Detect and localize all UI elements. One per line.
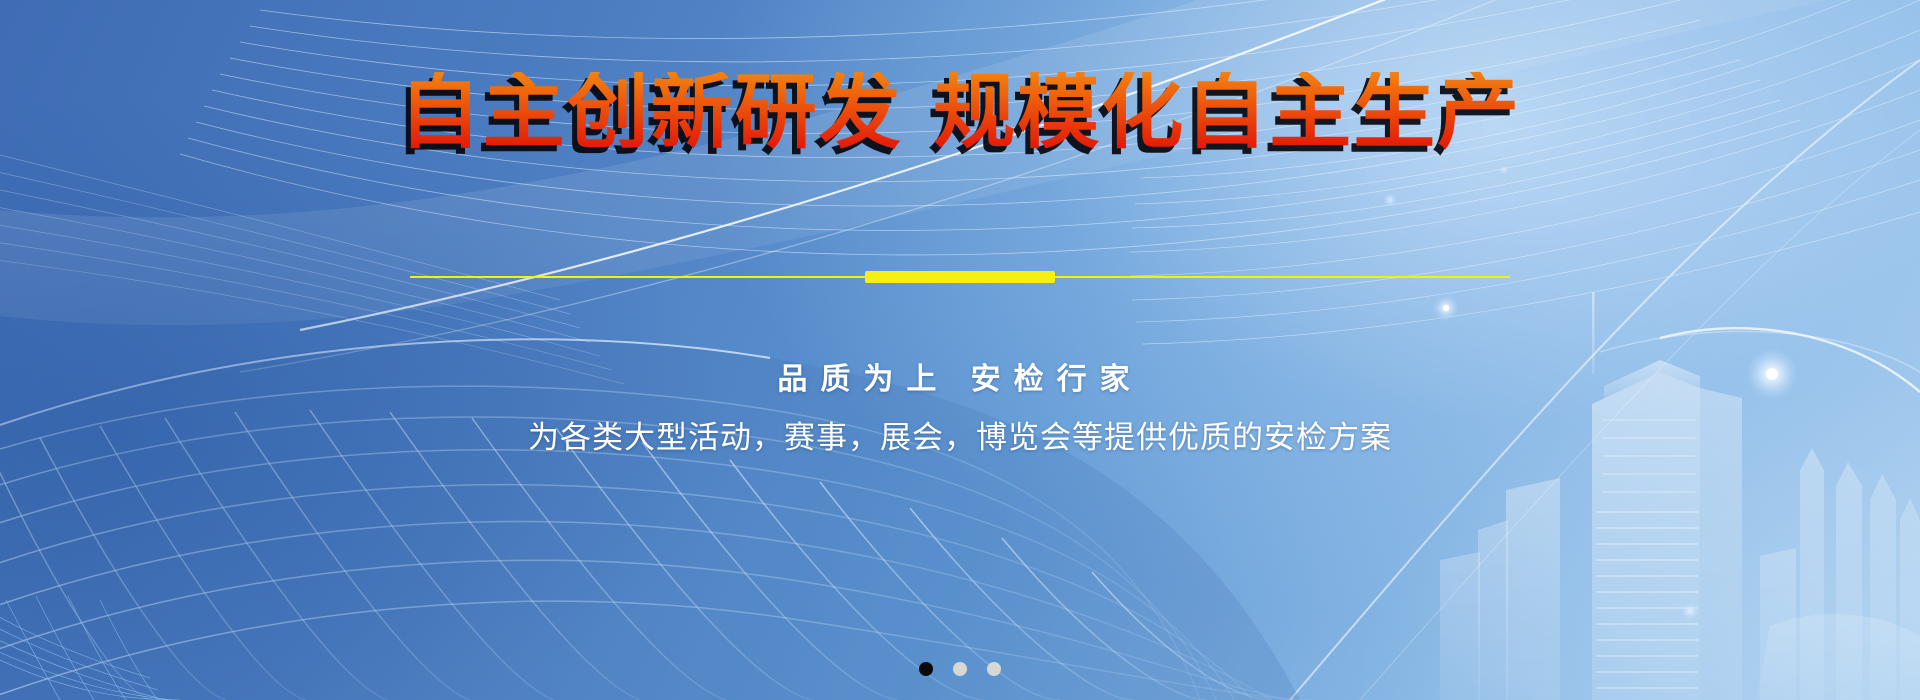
carousel-dot-2[interactable] [953, 662, 967, 676]
subtitle-primary: 品质为上 安检行家 [0, 360, 1920, 401]
hero-banner: 自主创新研发 规模化自主生产 品质为上 安检行家 为各类大型活动，赛事，展会，博… [0, 0, 1920, 700]
divider [410, 270, 1510, 284]
carousel-dot-1[interactable] [919, 662, 933, 676]
headline-container: 自主创新研发 规模化自主生产 [0, 72, 1920, 154]
carousel-indicators[interactable] [919, 662, 1001, 676]
page-title: 自主创新研发 规模化自主生产 [399, 72, 1522, 154]
subtitle-container: 品质为上 安检行家 为各类大型活动，赛事，展会，博览会等提供优质的安检方案 [0, 360, 1920, 458]
subtitle-secondary: 为各类大型活动，赛事，展会，博览会等提供优质的安检方案 [0, 417, 1920, 459]
divider-center-bar [865, 271, 1055, 283]
carousel-dot-3[interactable] [987, 662, 1001, 676]
